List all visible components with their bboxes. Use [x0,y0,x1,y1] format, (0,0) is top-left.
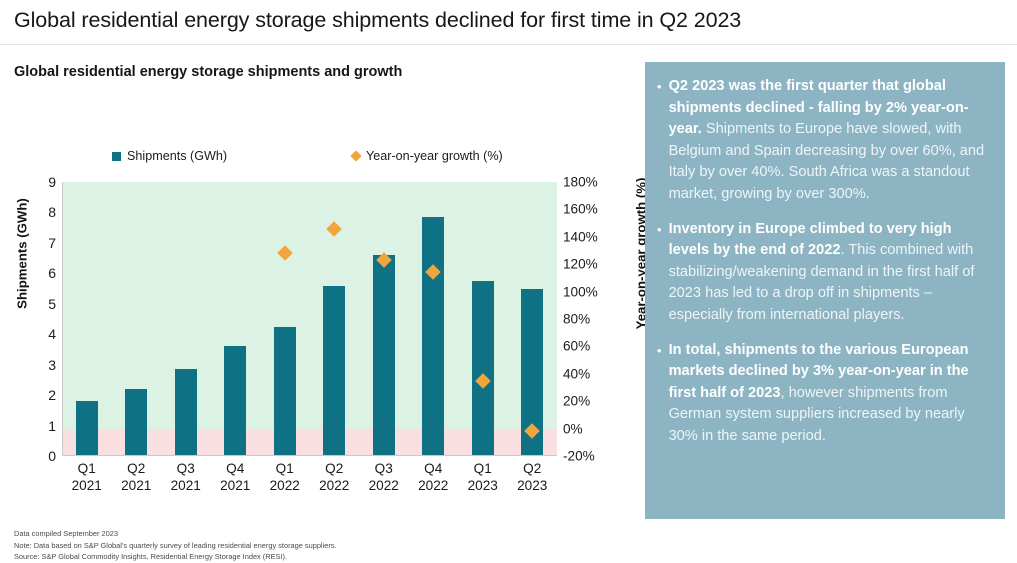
x-label-quarter: Q3 [359,460,409,477]
y-tick-right: -20% [563,449,595,464]
x-label-year: 2022 [409,477,459,494]
x-label-quarter: Q3 [161,460,211,477]
chart-panel: Global residential energy storage shipme… [0,46,640,529]
commentary-bullet-item: •Inventory in Europe climbed to very hig… [657,219,989,327]
x-label-quarter: Q2 [310,460,360,477]
bullet-icon: • [657,340,662,448]
x-label-quarter: Q1 [62,460,112,477]
growth-marker[interactable] [326,221,342,237]
commentary-panel: •Q2 2023 was the first quarter that glob… [645,62,1005,519]
bullet-icon: • [657,76,662,206]
footnotes: Data compiled September 2023 Note: Data … [14,528,634,563]
x-axis-label: Q12023 [458,460,508,494]
growth-marker-series [62,182,557,456]
commentary-text-bold: Inventory in Europe climbed to very high… [669,221,952,259]
y-tick-left: 8 [48,204,56,220]
page-title: Global residential energy storage shipme… [14,8,994,33]
legend-label-shipments: Shipments (GWh) [127,149,227,163]
commentary-text-bold: Q2 2023 was the first quarter that globa… [669,78,969,137]
x-label-year: 2022 [359,477,409,494]
y-tick-right: 100% [563,284,598,299]
y-tick-right: 80% [563,312,590,327]
y-tick-right: 60% [563,339,590,354]
x-axis-label: Q22023 [508,460,558,494]
x-label-year: 2021 [62,477,112,494]
footnote-note: Note: Data based on S&P Global's quarter… [14,540,634,552]
footnote-compiled: Data compiled September 2023 [14,528,634,540]
x-label-year: 2022 [310,477,360,494]
y-tick-right: 0% [563,421,583,436]
y-tick-left: 3 [48,357,56,373]
y-tick-right: 20% [563,394,590,409]
legend-item-growth: Year-on-year growth (%) [352,149,503,163]
growth-marker[interactable] [376,252,392,268]
y-tick-left: 5 [48,296,56,312]
bullet-icon: • [657,219,662,327]
x-label-quarter: Q2 [508,460,558,477]
y-tick-right: 120% [563,257,598,272]
commentary-text: Q2 2023 was the first quarter that globa… [669,76,989,206]
x-axis-label: Q42021 [211,460,261,494]
x-label-year: 2021 [161,477,211,494]
x-label-year: 2022 [260,477,310,494]
y-tick-left: 9 [48,174,56,190]
y-axis-left-ticks: 0123456789 [26,182,56,456]
commentary-text-bold: In total, shipments to the various Europ… [669,342,969,401]
x-axis-label: Q12022 [260,460,310,494]
y-axis-right-ticks: -20%0%20%40%60%80%100%120%140%160%180% [563,182,609,456]
commentary-bullet-item: •Q2 2023 was the first quarter that glob… [657,76,989,206]
header-divider [0,44,1017,45]
y-tick-right: 140% [563,229,598,244]
x-axis-label: Q22021 [112,460,162,494]
x-label-quarter: Q1 [458,460,508,477]
x-label-quarter: Q1 [260,460,310,477]
x-axis-label: Q32022 [359,460,409,494]
y-tick-left: 0 [48,448,56,464]
x-label-quarter: Q4 [409,460,459,477]
y-tick-left: 6 [48,265,56,281]
y-tick-right: 180% [563,175,598,190]
x-label-quarter: Q4 [211,460,261,477]
legend-square-icon [112,152,121,161]
commentary-bullet-item: •In total, shipments to the various Euro… [657,340,989,448]
y-tick-left: 4 [48,326,56,342]
x-label-year: 2023 [508,477,558,494]
x-axis-label: Q42022 [409,460,459,494]
y-tick-left: 1 [48,418,56,434]
x-axis-label: Q12021 [62,460,112,494]
chart-title: Global residential energy storage shipme… [14,64,402,80]
y-tick-right: 160% [563,202,598,217]
x-axis-labels: Q12021Q22021Q32021Q42021Q12022Q22022Q320… [62,460,557,494]
slide-root: Global residential energy storage shipme… [0,0,1017,529]
x-axis-label: Q32021 [161,460,211,494]
chart-legend: Shipments (GWh) Year-on-year growth (%) [112,149,562,169]
x-axis-label: Q22022 [310,460,360,494]
growth-marker[interactable] [475,373,491,389]
legend-diamond-icon [350,150,361,161]
x-label-year: 2021 [211,477,261,494]
x-label-quarter: Q2 [112,460,162,477]
commentary-text: Inventory in Europe climbed to very high… [669,219,989,327]
y-tick-left: 2 [48,387,56,403]
legend-item-shipments: Shipments (GWh) [112,149,227,163]
footnote-source: Source: S&P Global Commodity Insights, R… [14,551,634,563]
y-tick-right: 40% [563,366,590,381]
growth-marker[interactable] [524,424,540,440]
growth-marker[interactable] [277,245,293,261]
x-label-year: 2021 [112,477,162,494]
x-label-year: 2023 [458,477,508,494]
commentary-text: In total, shipments to the various Europ… [669,340,989,448]
legend-label-growth: Year-on-year growth (%) [366,149,503,163]
y-tick-left: 7 [48,235,56,251]
growth-marker[interactable] [425,265,441,281]
plot-area [62,182,557,456]
